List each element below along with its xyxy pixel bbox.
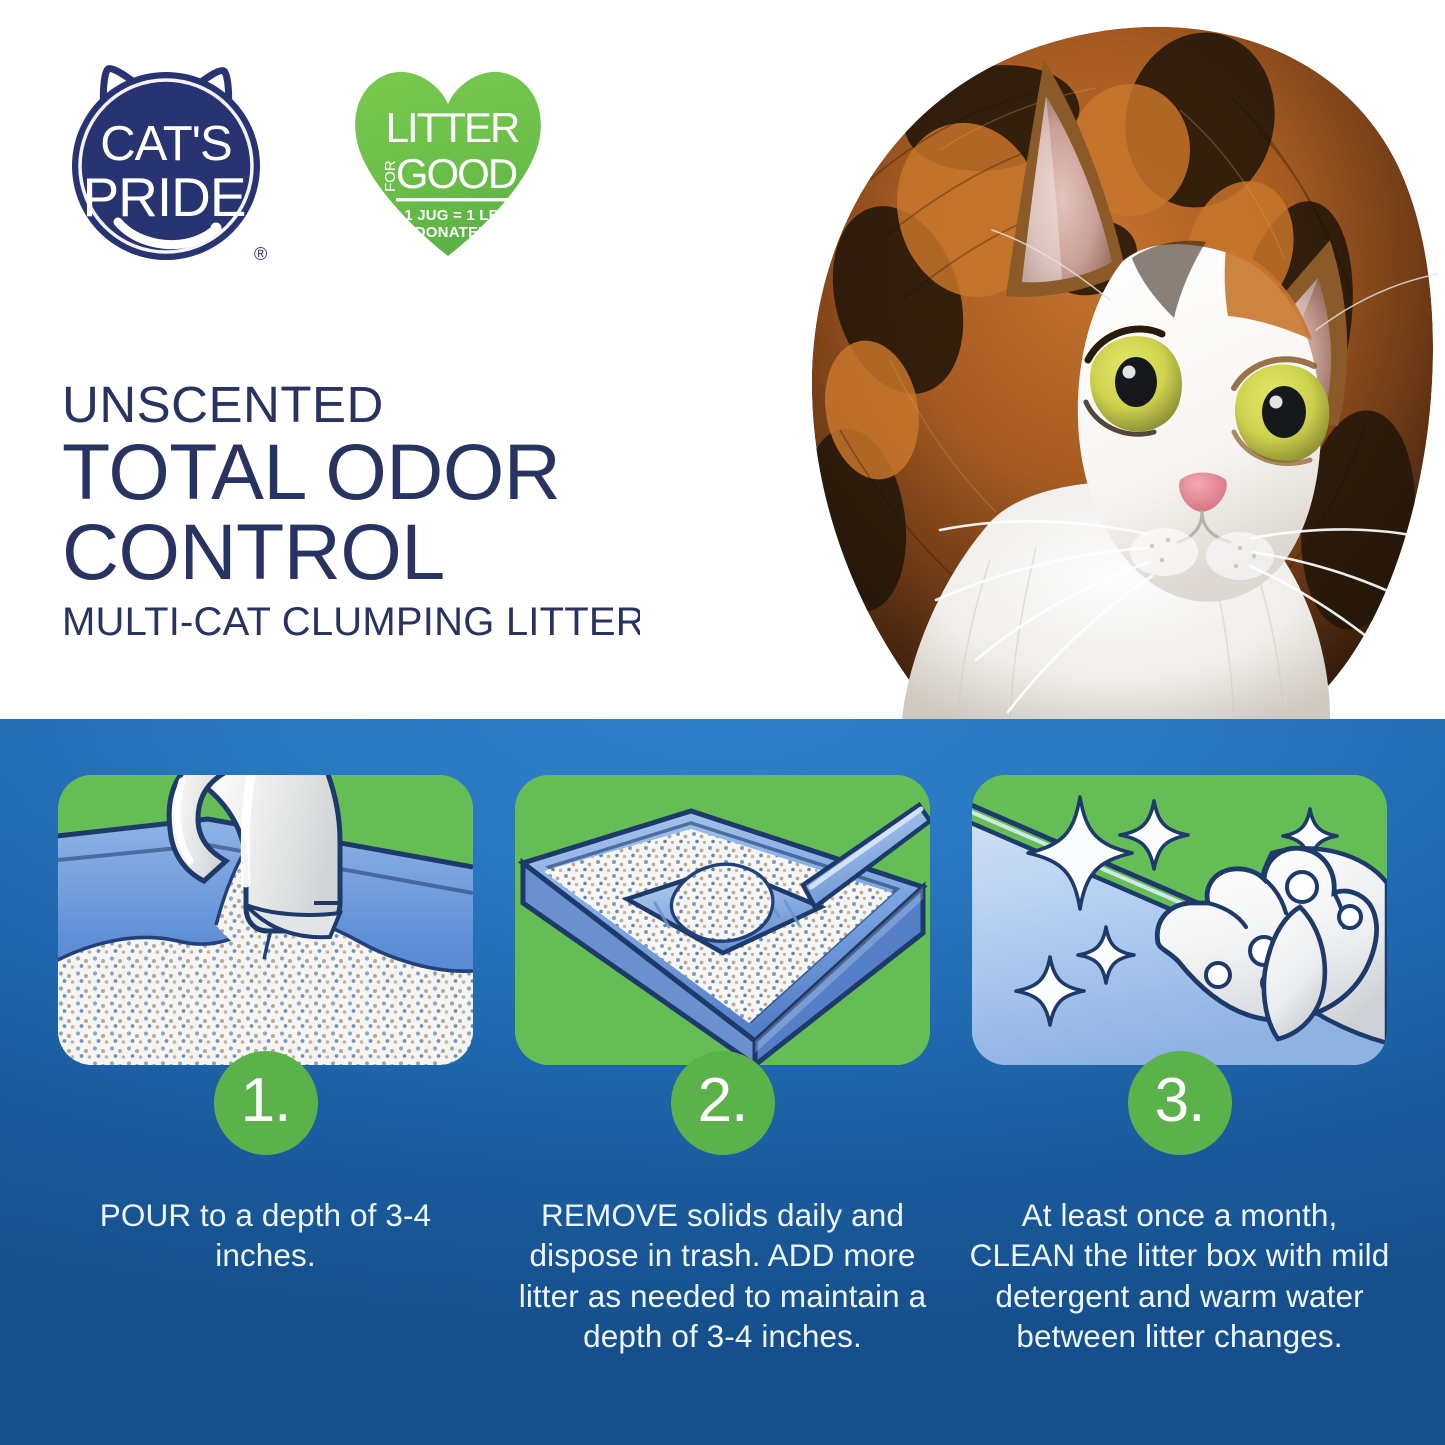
- svg-text:LITTER: LITTER: [386, 104, 519, 151]
- clean-litter-box-icon: [972, 775, 1387, 1065]
- step-1-caption: POUR to a depth of 3-4 inches.: [51, 1195, 480, 1276]
- step-1-illustration-card: [58, 775, 473, 1065]
- pour-litter-icon: [58, 775, 473, 1065]
- step-2: 2. REMOVE solids daily and dispose in tr…: [515, 775, 930, 1065]
- svg-text:1 JUG = 1 LB: 1 JUG = 1 LB: [404, 207, 499, 224]
- scoop-solids-icon: [515, 775, 930, 1065]
- litter-for-good-badge: LITTER GOOD FOR 1 JUG = 1 LB DONATED ®: [348, 60, 548, 268]
- cat-photo: [640, 0, 1445, 719]
- instructions-panel: 1. POUR to a depth of 3-4 inches.: [0, 719, 1445, 1445]
- product-kicker: UNSCENTED: [62, 378, 722, 432]
- step-3: 3. At least once a month, CLEAN the litt…: [972, 775, 1387, 1065]
- step-2-number: 2.: [671, 1051, 775, 1155]
- litter-for-good-graphic: LITTER GOOD FOR 1 JUG = 1 LB DONATED ®: [348, 60, 548, 268]
- cats-pride-logo-graphic: CAT'S PRIDE ®: [58, 56, 276, 268]
- svg-text:®: ®: [254, 244, 267, 264]
- product-title-line-1: TOTAL ODOR: [62, 432, 722, 512]
- step-3-illustration-card: [972, 775, 1387, 1065]
- step-3-caption: At least once a month, CLEAN the litter …: [965, 1195, 1394, 1356]
- svg-text:®: ®: [516, 225, 528, 242]
- step-2-illustration-card: [515, 775, 930, 1065]
- svg-text:GOOD: GOOD: [396, 150, 517, 197]
- headline-block: UNSCENTED TOTAL ODOR CONTROL MULTI-CAT C…: [62, 378, 722, 644]
- cat-photo-graphic: [640, 0, 1445, 719]
- step-2-caption: REMOVE solids daily and dispose in trash…: [508, 1195, 937, 1356]
- svg-text:FOR: FOR: [382, 160, 399, 192]
- hero-section: CAT'S PRIDE ® LITTER GOOD: [0, 0, 1445, 719]
- svg-text:CAT'S: CAT'S: [100, 117, 231, 171]
- cats-pride-logo: CAT'S PRIDE ®: [58, 56, 276, 268]
- svg-text:PRIDE: PRIDE: [82, 166, 245, 228]
- svg-text:DONATED: DONATED: [415, 224, 489, 241]
- product-title-line-2: CONTROL: [62, 512, 722, 592]
- step-1-number: 1.: [214, 1051, 318, 1155]
- product-subtitle: MULTI-CAT CLUMPING LITTER: [62, 600, 722, 644]
- step-1: 1. POUR to a depth of 3-4 inches.: [58, 775, 473, 1065]
- step-3-number: 3.: [1128, 1051, 1232, 1155]
